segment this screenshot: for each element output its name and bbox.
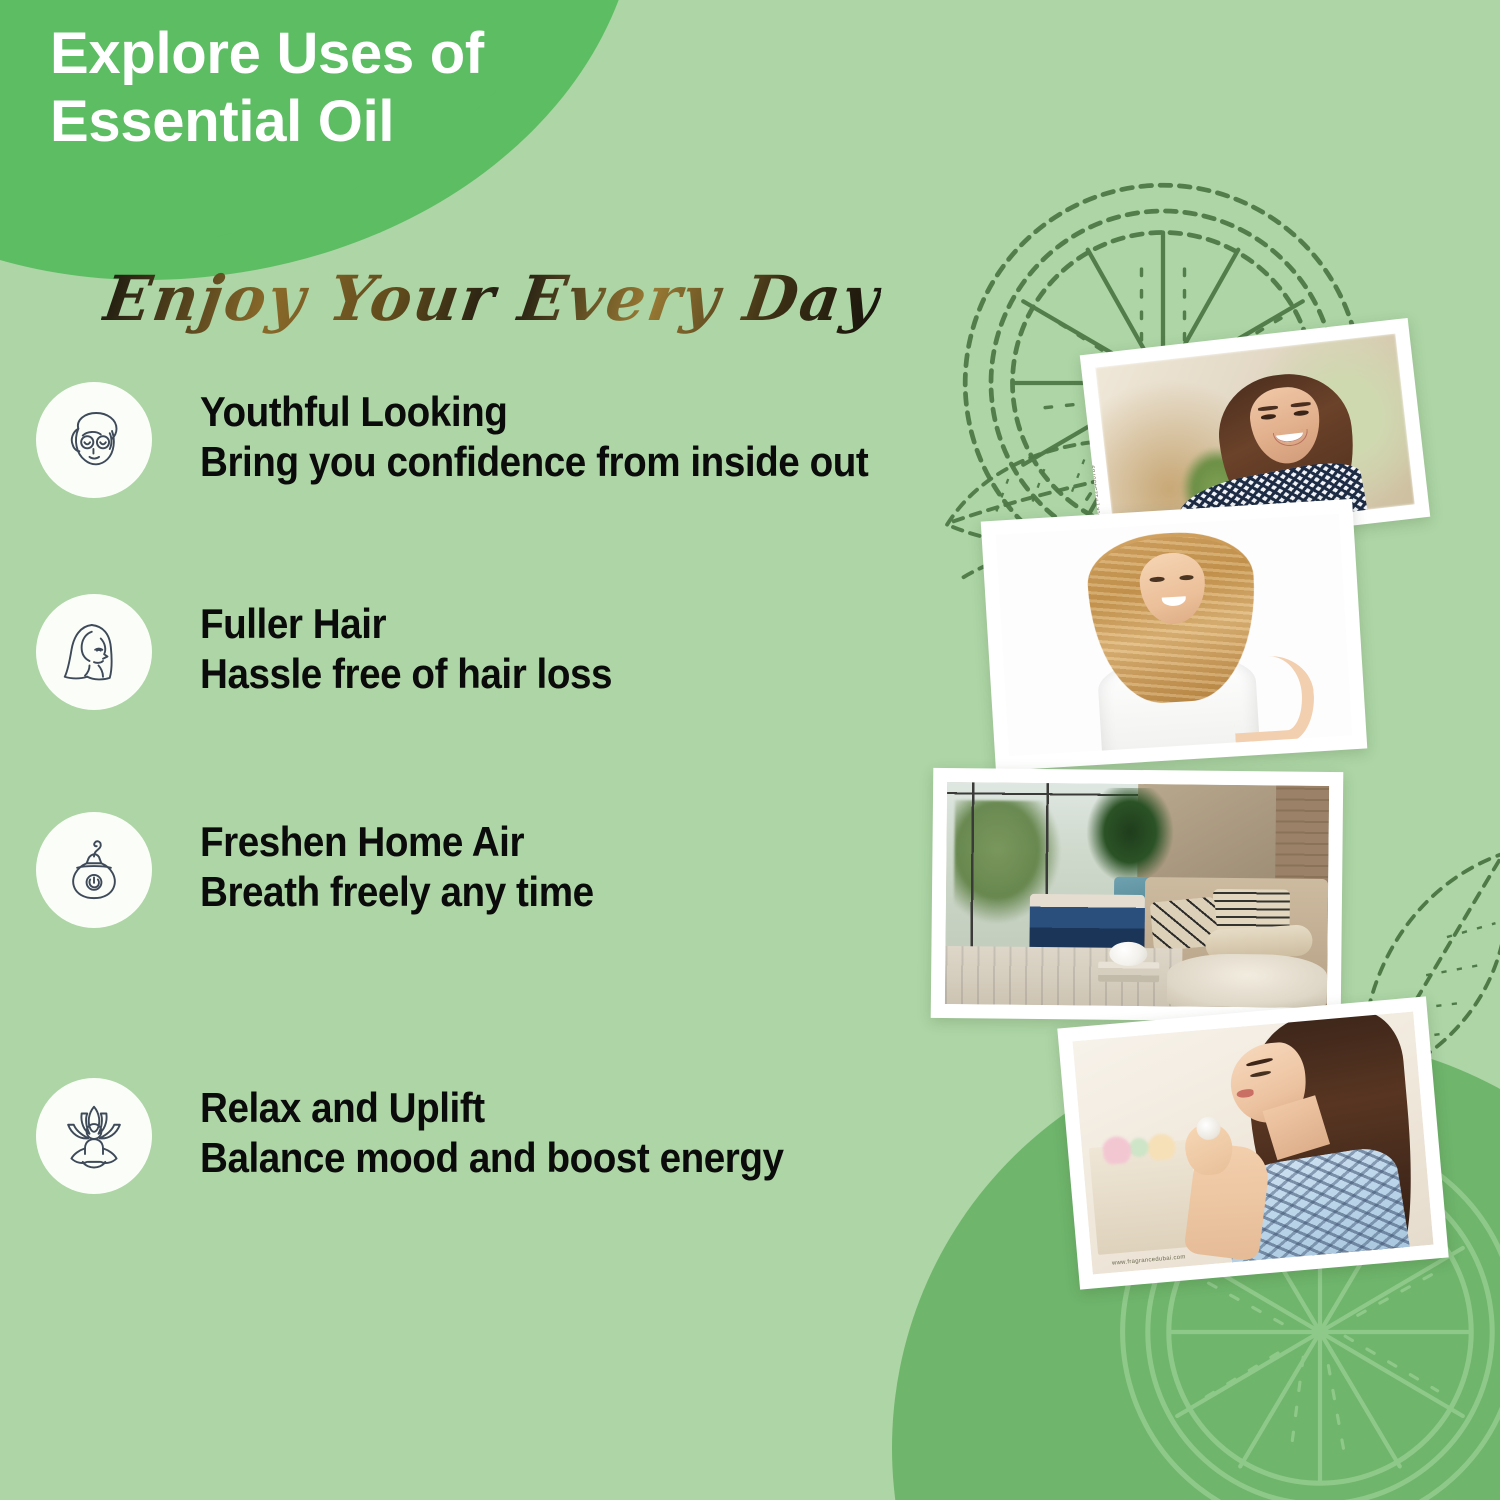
feature-subtitle: Hassle free of hair loss — [200, 650, 612, 697]
feature-title: Freshen Home Air — [200, 818, 594, 865]
infographic-poster: Explore Uses of Essential Oil Enjoy Your… — [0, 0, 1500, 1500]
aroma-diffuser-icon — [36, 812, 152, 928]
feature-item-fuller-hair[interactable]: Fuller Hair Hassle free of hair loss — [36, 594, 648, 710]
page-title-line-2: Essential Oil — [50, 88, 690, 156]
feature-subtitle: Bring you confidence from inside out — [200, 438, 868, 485]
feature-text-fuller-hair: Fuller Hair Hassle free of hair loss — [200, 594, 648, 697]
long-hair-profile-icon — [36, 594, 152, 710]
feature-item-freshen-home-air[interactable]: Freshen Home Air Breath freely any time — [36, 812, 628, 928]
photo-blonde-hair-image — [996, 514, 1353, 757]
feature-title: Fuller Hair — [200, 600, 612, 647]
photo-living-room-image — [945, 782, 1329, 1008]
script-heading: Enjoy Your Every Day — [99, 262, 886, 335]
photo-blonde-hair-model[interactable] — [981, 499, 1368, 771]
feature-subtitle: Breath freely any time — [200, 868, 594, 915]
facial-mask-icon — [36, 382, 152, 498]
page-title: Explore Uses of Essential Oil — [50, 20, 690, 156]
feature-item-youthful-looking[interactable]: Youthful Looking Bring you confidence fr… — [36, 382, 926, 498]
page-title-line-1: Explore Uses of — [50, 20, 690, 88]
feature-title: Relax and Uplift — [200, 1084, 784, 1131]
feature-text-relax-and-uplift: Relax and Uplift Balance mood and boost … — [200, 1078, 834, 1181]
lotus-meditation-icon — [36, 1078, 152, 1194]
feature-title: Youthful Looking — [200, 388, 868, 435]
feature-text-youthful-looking: Youthful Looking Bring you confidence fr… — [200, 382, 926, 485]
feature-text-freshen-home-air: Freshen Home Air Breath freely any time — [200, 812, 628, 915]
photo-living-room[interactable] — [931, 768, 1344, 1022]
photo-fragrance-woman[interactable]: www.fragrancedubai.com — [1057, 996, 1448, 1289]
photo-collage: Adobe Stock | #123456789 — [0, 0, 1500, 1500]
feature-subtitle: Balance mood and boost energy — [200, 1134, 784, 1181]
photo-fragrance-woman-image: www.fragrancedubai.com — [1072, 1012, 1433, 1275]
feature-item-relax-and-uplift[interactable]: Relax and Uplift Balance mood and boost … — [36, 1078, 834, 1194]
